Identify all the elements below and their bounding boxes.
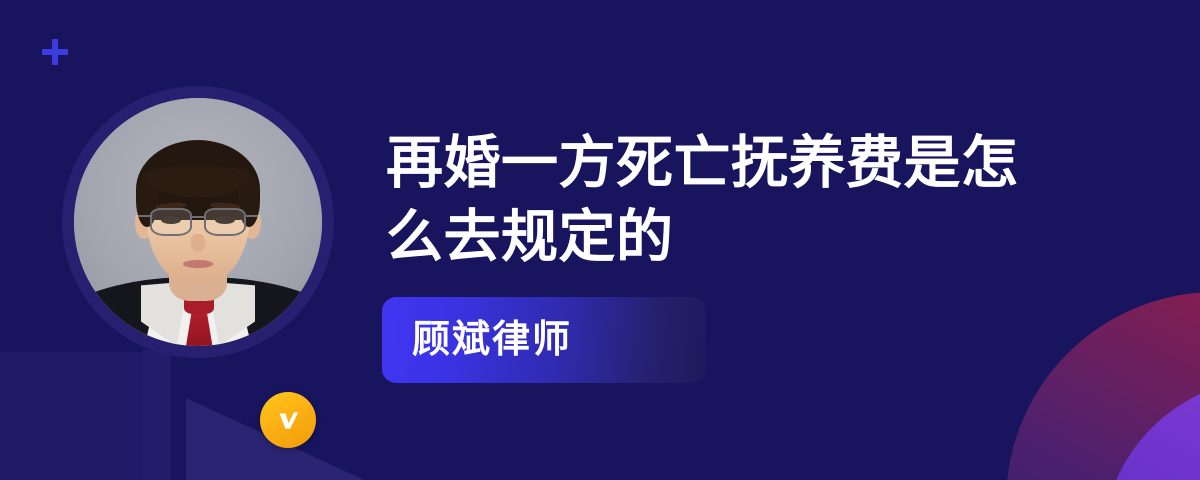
portrait-glasses-lens-right <box>204 208 246 235</box>
decor-panel-bottom-left <box>0 352 170 480</box>
avatar-portrait-photo <box>74 98 322 346</box>
decor-band-bottom-left <box>143 350 171 480</box>
lawyer-name-button[interactable]: 顾斌律师 <box>382 297 706 383</box>
decor-blob-inner-bottom-right <box>1102 378 1200 480</box>
plus-icon <box>40 37 70 67</box>
verified-check-v-icon <box>260 392 316 448</box>
lawyer-name-label: 顾斌律师 <box>412 321 572 359</box>
plus-icon-bar-vertical <box>52 39 58 65</box>
portrait-mouth <box>183 260 213 267</box>
portrait-glasses-bridge <box>192 216 204 218</box>
portrait-glasses-lens-left <box>150 208 192 235</box>
avatar-circle <box>74 98 322 346</box>
lawyer-qa-banner: 再婚一方死亡抚养费是怎 么去规定的 顾斌律师 <box>0 0 1200 480</box>
portrait-glasses-temple-left <box>138 215 150 217</box>
portrait-nose <box>191 234 206 251</box>
page-title: 再婚一方死亡抚养费是怎 么去规定的 <box>386 126 1066 274</box>
decor-blob-outer-bottom-right <box>1006 292 1200 480</box>
avatar[interactable] <box>74 98 322 346</box>
portrait-glasses-temple-right <box>245 215 257 217</box>
